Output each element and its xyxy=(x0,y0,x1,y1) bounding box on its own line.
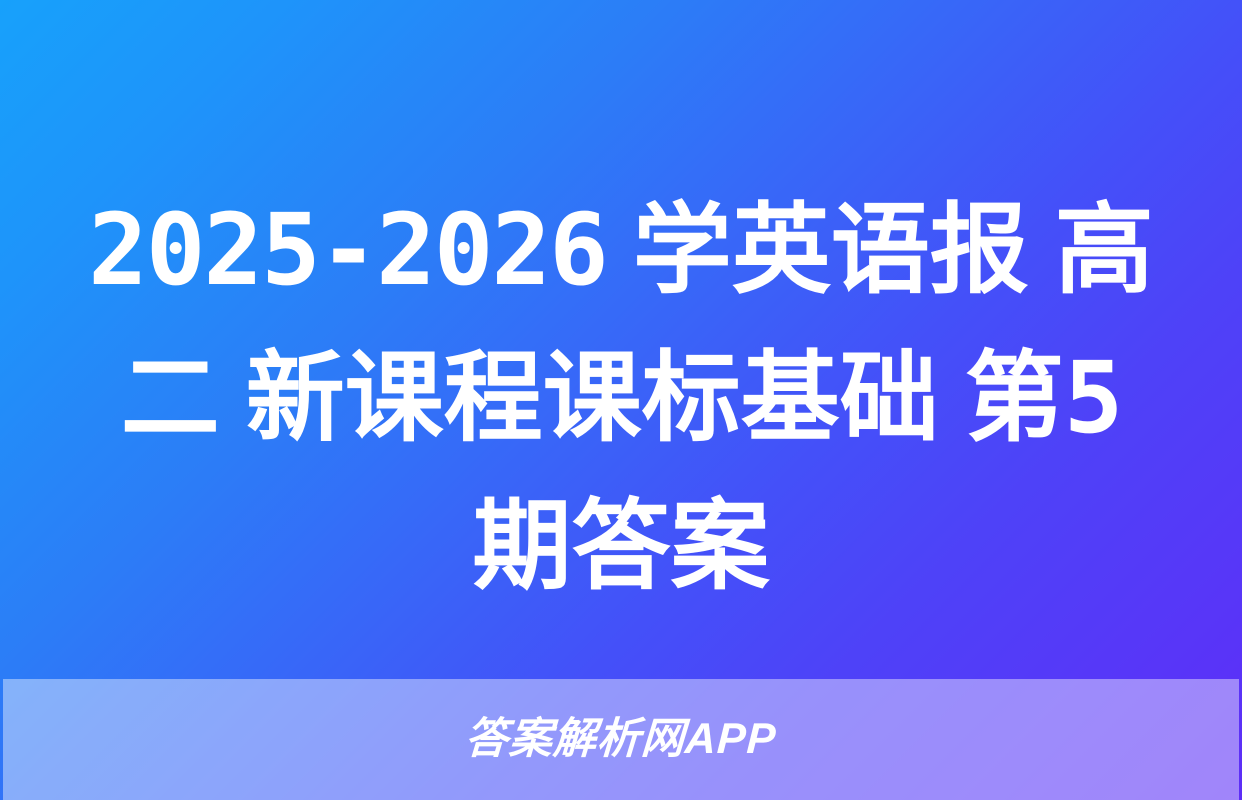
title-edition: 新课程课标基础 xyxy=(246,342,939,453)
title-line-2: 二新课程课标基础第5 xyxy=(62,324,1180,472)
title-content-type: 期答案 xyxy=(473,490,770,601)
footer-watermark-band: 答案解析网APP xyxy=(3,679,1239,800)
title-card: 2025-2026学英语报高 二新课程课标基础第5 期答案 答案解析网APP xyxy=(0,0,1242,800)
title-line-1: 2025-2026学英语报高 xyxy=(62,176,1180,324)
title-publication: 学英语报 xyxy=(633,194,1029,305)
app-watermark-label: 答案解析网APP xyxy=(464,718,778,761)
title-grade-part-2: 二 xyxy=(121,342,220,453)
title-issue-prefix: 第 xyxy=(965,342,1064,453)
title-grade-part-1: 高 xyxy=(1055,194,1154,305)
page-title: 2025-2026学英语报高 二新课程课标基础第5 期答案 xyxy=(62,176,1180,619)
title-year-range: 2025-2026 xyxy=(88,193,606,308)
title-issue-number: 5 xyxy=(1064,341,1122,456)
title-line-3: 期答案 xyxy=(62,472,1180,619)
